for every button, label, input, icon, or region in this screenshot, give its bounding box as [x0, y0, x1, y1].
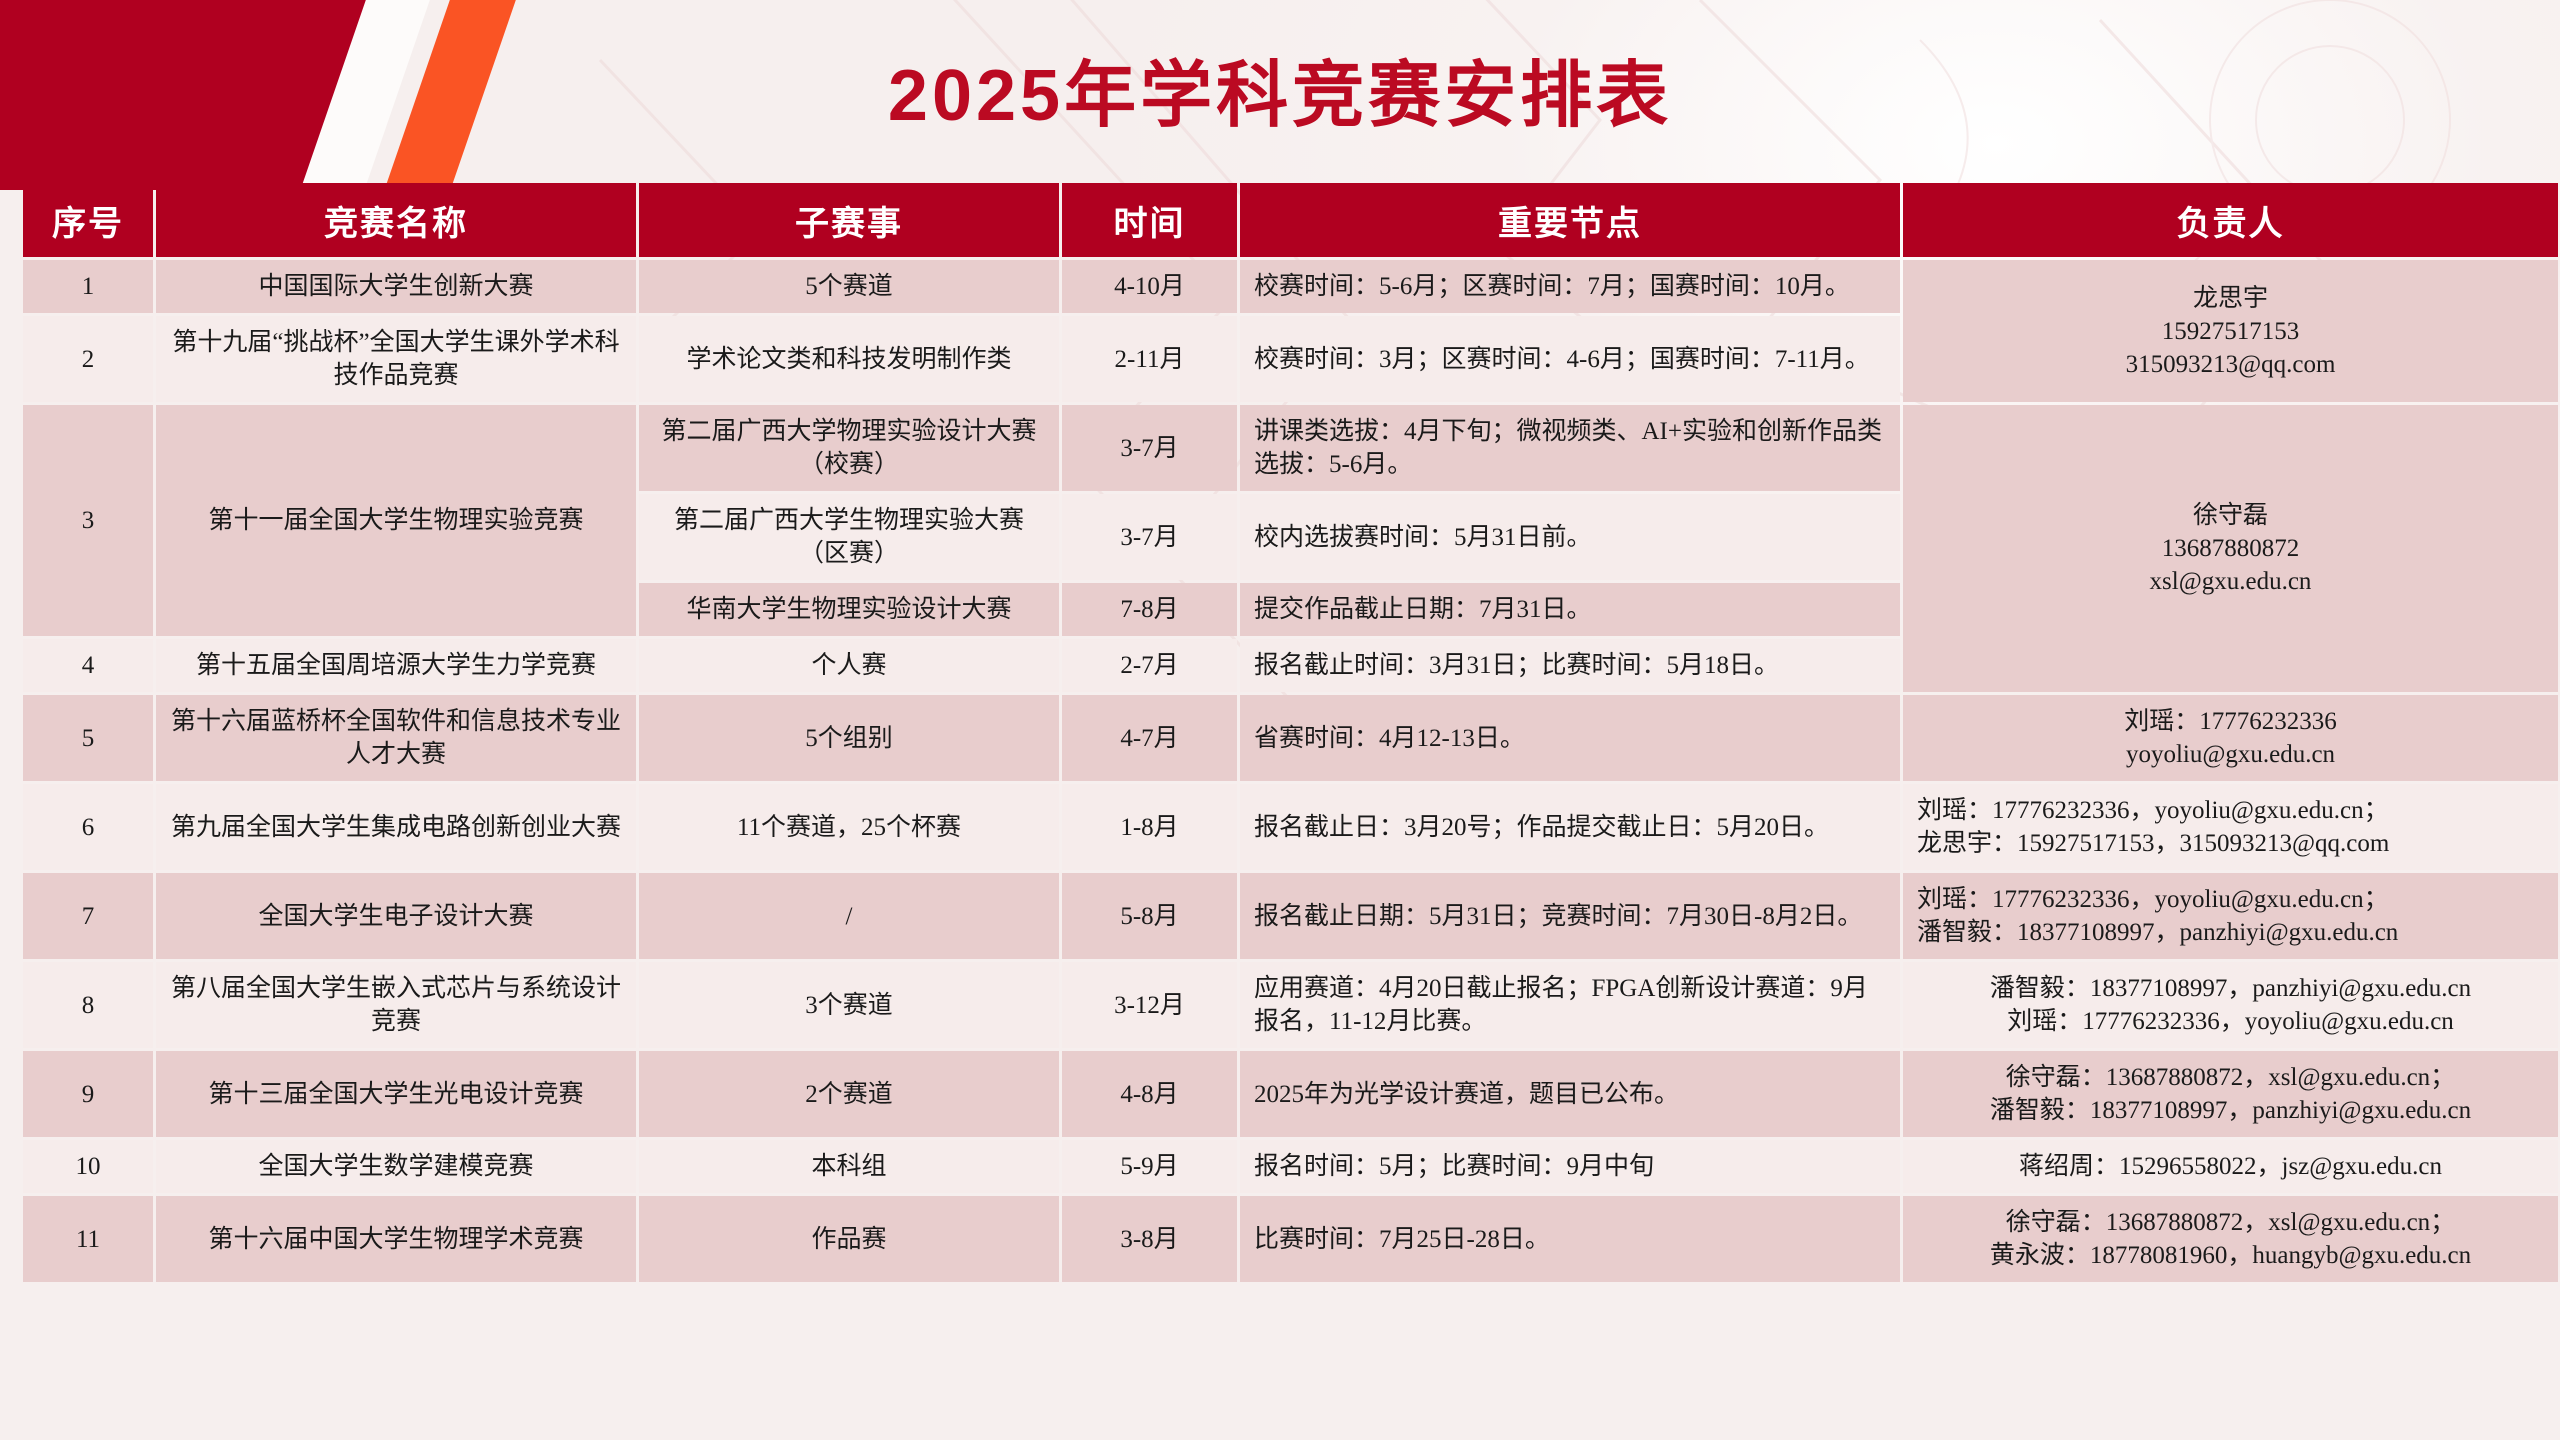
table-header-row: 序号 竞赛名称 子赛事 时间 重要节点 负责人 [23, 183, 2558, 257]
column-header-time: 时间 [1062, 183, 1237, 257]
cell-key-node: 报名截止日期：5月31日；竞赛时间：7月30日-8月2日。 [1240, 873, 1900, 959]
cell-owner: 徐守磊：13687880872，xsl@gxu.edu.cn； 潘智毅：1837… [1903, 1051, 2558, 1137]
cell-key-node: 校赛时间：3月；区赛时间：4-6月；国赛时间：7-11月。 [1240, 316, 1900, 402]
competition-schedule-table: 序号 竞赛名称 子赛事 时间 重要节点 负责人 1 中国国际大学生创新大赛 5个… [20, 180, 2560, 1285]
cell-competition-name: 第十六届蓝桥杯全国软件和信息技术专业人才大赛 [156, 695, 636, 781]
table-row: 1 中国国际大学生创新大赛 5个赛道 4-10月 校赛时间：5-6月；区赛时间：… [23, 260, 2558, 313]
cell-competition-name: 第十一届全国大学生物理实验竞赛 [156, 405, 636, 636]
cell-index: 10 [23, 1140, 153, 1193]
cell-owner: 徐守磊 13687880872 xsl@gxu.edu.cn [1903, 405, 2558, 692]
cell-key-node: 比赛时间：7月25日-28日。 [1240, 1196, 1900, 1282]
cell-sub-event: 华南大学生物理实验设计大赛 [639, 583, 1059, 636]
cell-time: 2-7月 [1062, 639, 1237, 692]
table-row: 5 第十六届蓝桥杯全国软件和信息技术专业人才大赛 5个组别 4-7月 省赛时间：… [23, 695, 2558, 781]
schedule-table-container: 序号 竞赛名称 子赛事 时间 重要节点 负责人 1 中国国际大学生创新大赛 5个… [20, 180, 2540, 1285]
cell-index: 8 [23, 962, 153, 1048]
cell-index: 1 [23, 260, 153, 313]
cell-time: 1-8月 [1062, 784, 1237, 870]
cell-index: 7 [23, 873, 153, 959]
cell-index: 11 [23, 1196, 153, 1282]
cell-key-node: 提交作品截止日期：7月31日。 [1240, 583, 1900, 636]
cell-sub-event: 11个赛道，25个杯赛 [639, 784, 1059, 870]
cell-time: 2-11月 [1062, 316, 1237, 402]
cell-key-node: 报名截止日：3月20号；作品提交截止日：5月20日。 [1240, 784, 1900, 870]
cell-key-node: 应用赛道：4月20日截止报名；FPGA创新设计赛道：9月报名，11-12月比赛。 [1240, 962, 1900, 1048]
cell-index: 6 [23, 784, 153, 870]
cell-sub-event: 第二届广西大学物理实验设计大赛（校赛） [639, 405, 1059, 491]
page-title: 2025年学科竞赛安排表 [0, 36, 2560, 141]
cell-index: 2 [23, 316, 153, 402]
cell-owner: 刘瑶：17776232336，yoyoliu@gxu.edu.cn； 潘智毅：1… [1903, 873, 2558, 959]
column-header-owner: 负责人 [1903, 183, 2558, 257]
cell-time: 4-10月 [1062, 260, 1237, 313]
cell-competition-name: 第十九届“挑战杯”全国大学生课外学术科技作品竞赛 [156, 316, 636, 402]
cell-sub-event: 作品赛 [639, 1196, 1059, 1282]
cell-owner: 龙思宇 15927517153 315093213@qq.com [1903, 260, 2558, 402]
table-row: 10 全国大学生数学建模竞赛 本科组 5-9月 报名时间：5月；比赛时间：9月中… [23, 1140, 2558, 1193]
cell-competition-name: 第八届全国大学生嵌入式芯片与系统设计竞赛 [156, 962, 636, 1048]
cell-competition-name: 全国大学生电子设计大赛 [156, 873, 636, 959]
column-header-name: 竞赛名称 [156, 183, 636, 257]
cell-time: 3-8月 [1062, 1196, 1237, 1282]
cell-time: 4-8月 [1062, 1051, 1237, 1137]
cell-time: 7-8月 [1062, 583, 1237, 636]
cell-time: 3-7月 [1062, 405, 1237, 491]
slide-canvas: 2025年学科竞赛安排表 序号 竞赛名称 子赛事 时间 重要节点 负责人 [0, 0, 2560, 1440]
cell-sub-event: 个人赛 [639, 639, 1059, 692]
cell-sub-event: 2个赛道 [639, 1051, 1059, 1137]
cell-index: 3 [23, 405, 153, 636]
table-row: 3 第十一届全国大学生物理实验竞赛 第二届广西大学物理实验设计大赛（校赛） 3-… [23, 405, 2558, 491]
cell-key-node: 校内选拔赛时间：5月31日前。 [1240, 494, 1900, 580]
cell-competition-name: 第十五届全国周培源大学生力学竞赛 [156, 639, 636, 692]
cell-index: 4 [23, 639, 153, 692]
cell-time: 3-12月 [1062, 962, 1237, 1048]
cell-key-node: 省赛时间：4月12-13日。 [1240, 695, 1900, 781]
cell-sub-event: 3个赛道 [639, 962, 1059, 1048]
cell-time: 3-7月 [1062, 494, 1237, 580]
cell-sub-event: / [639, 873, 1059, 959]
cell-time: 5-8月 [1062, 873, 1237, 959]
cell-competition-name: 第九届全国大学生集成电路创新创业大赛 [156, 784, 636, 870]
cell-time: 5-9月 [1062, 1140, 1237, 1193]
table-row: 8 第八届全国大学生嵌入式芯片与系统设计竞赛 3个赛道 3-12月 应用赛道：4… [23, 962, 2558, 1048]
cell-key-node: 报名截止时间：3月31日；比赛时间：5月18日。 [1240, 639, 1900, 692]
cell-key-node: 校赛时间：5-6月；区赛时间：7月；国赛时间：10月。 [1240, 260, 1900, 313]
table-row: 11 第十六届中国大学生物理学术竞赛 作品赛 3-8月 比赛时间：7月25日-2… [23, 1196, 2558, 1282]
cell-sub-event: 5个赛道 [639, 260, 1059, 313]
cell-competition-name: 中国国际大学生创新大赛 [156, 260, 636, 313]
cell-time: 4-7月 [1062, 695, 1237, 781]
table-row: 7 全国大学生电子设计大赛 / 5-8月 报名截止日期：5月31日；竞赛时间：7… [23, 873, 2558, 959]
cell-owner: 潘智毅：18377108997，panzhiyi@gxu.edu.cn 刘瑶：1… [1903, 962, 2558, 1048]
cell-key-node: 报名时间：5月；比赛时间：9月中旬 [1240, 1140, 1900, 1193]
cell-sub-event: 本科组 [639, 1140, 1059, 1193]
cell-owner: 刘瑶：17776232336，yoyoliu@gxu.edu.cn； 龙思宇：1… [1903, 784, 2558, 870]
cell-key-node: 讲课类选拔：4月下旬；微视频类、AI+实验和创新作品类选拔：5-6月。 [1240, 405, 1900, 491]
cell-sub-event: 学术论文类和科技发明制作类 [639, 316, 1059, 402]
cell-owner: 蒋绍周：15296558022，jsz@gxu.edu.cn [1903, 1140, 2558, 1193]
cell-sub-event: 第二届广西大学生物理实验大赛（区赛） [639, 494, 1059, 580]
cell-competition-name: 全国大学生数学建模竞赛 [156, 1140, 636, 1193]
column-header-index: 序号 [23, 183, 153, 257]
cell-competition-name: 第十六届中国大学生物理学术竞赛 [156, 1196, 636, 1282]
cell-owner: 徐守磊：13687880872，xsl@gxu.edu.cn； 黄永波：1877… [1903, 1196, 2558, 1282]
table-row: 9 第十三届全国大学生光电设计竞赛 2个赛道 4-8月 2025年为光学设计赛道… [23, 1051, 2558, 1137]
cell-index: 5 [23, 695, 153, 781]
table-row: 6 第九届全国大学生集成电路创新创业大赛 11个赛道，25个杯赛 1-8月 报名… [23, 784, 2558, 870]
column-header-sub: 子赛事 [639, 183, 1059, 257]
cell-sub-event: 5个组别 [639, 695, 1059, 781]
column-header-node: 重要节点 [1240, 183, 1900, 257]
cell-competition-name: 第十三届全国大学生光电设计竞赛 [156, 1051, 636, 1137]
cell-key-node: 2025年为光学设计赛道，题目已公布。 [1240, 1051, 1900, 1137]
cell-index: 9 [23, 1051, 153, 1137]
cell-owner: 刘瑶：17776232336 yoyoliu@gxu.edu.cn [1903, 695, 2558, 781]
